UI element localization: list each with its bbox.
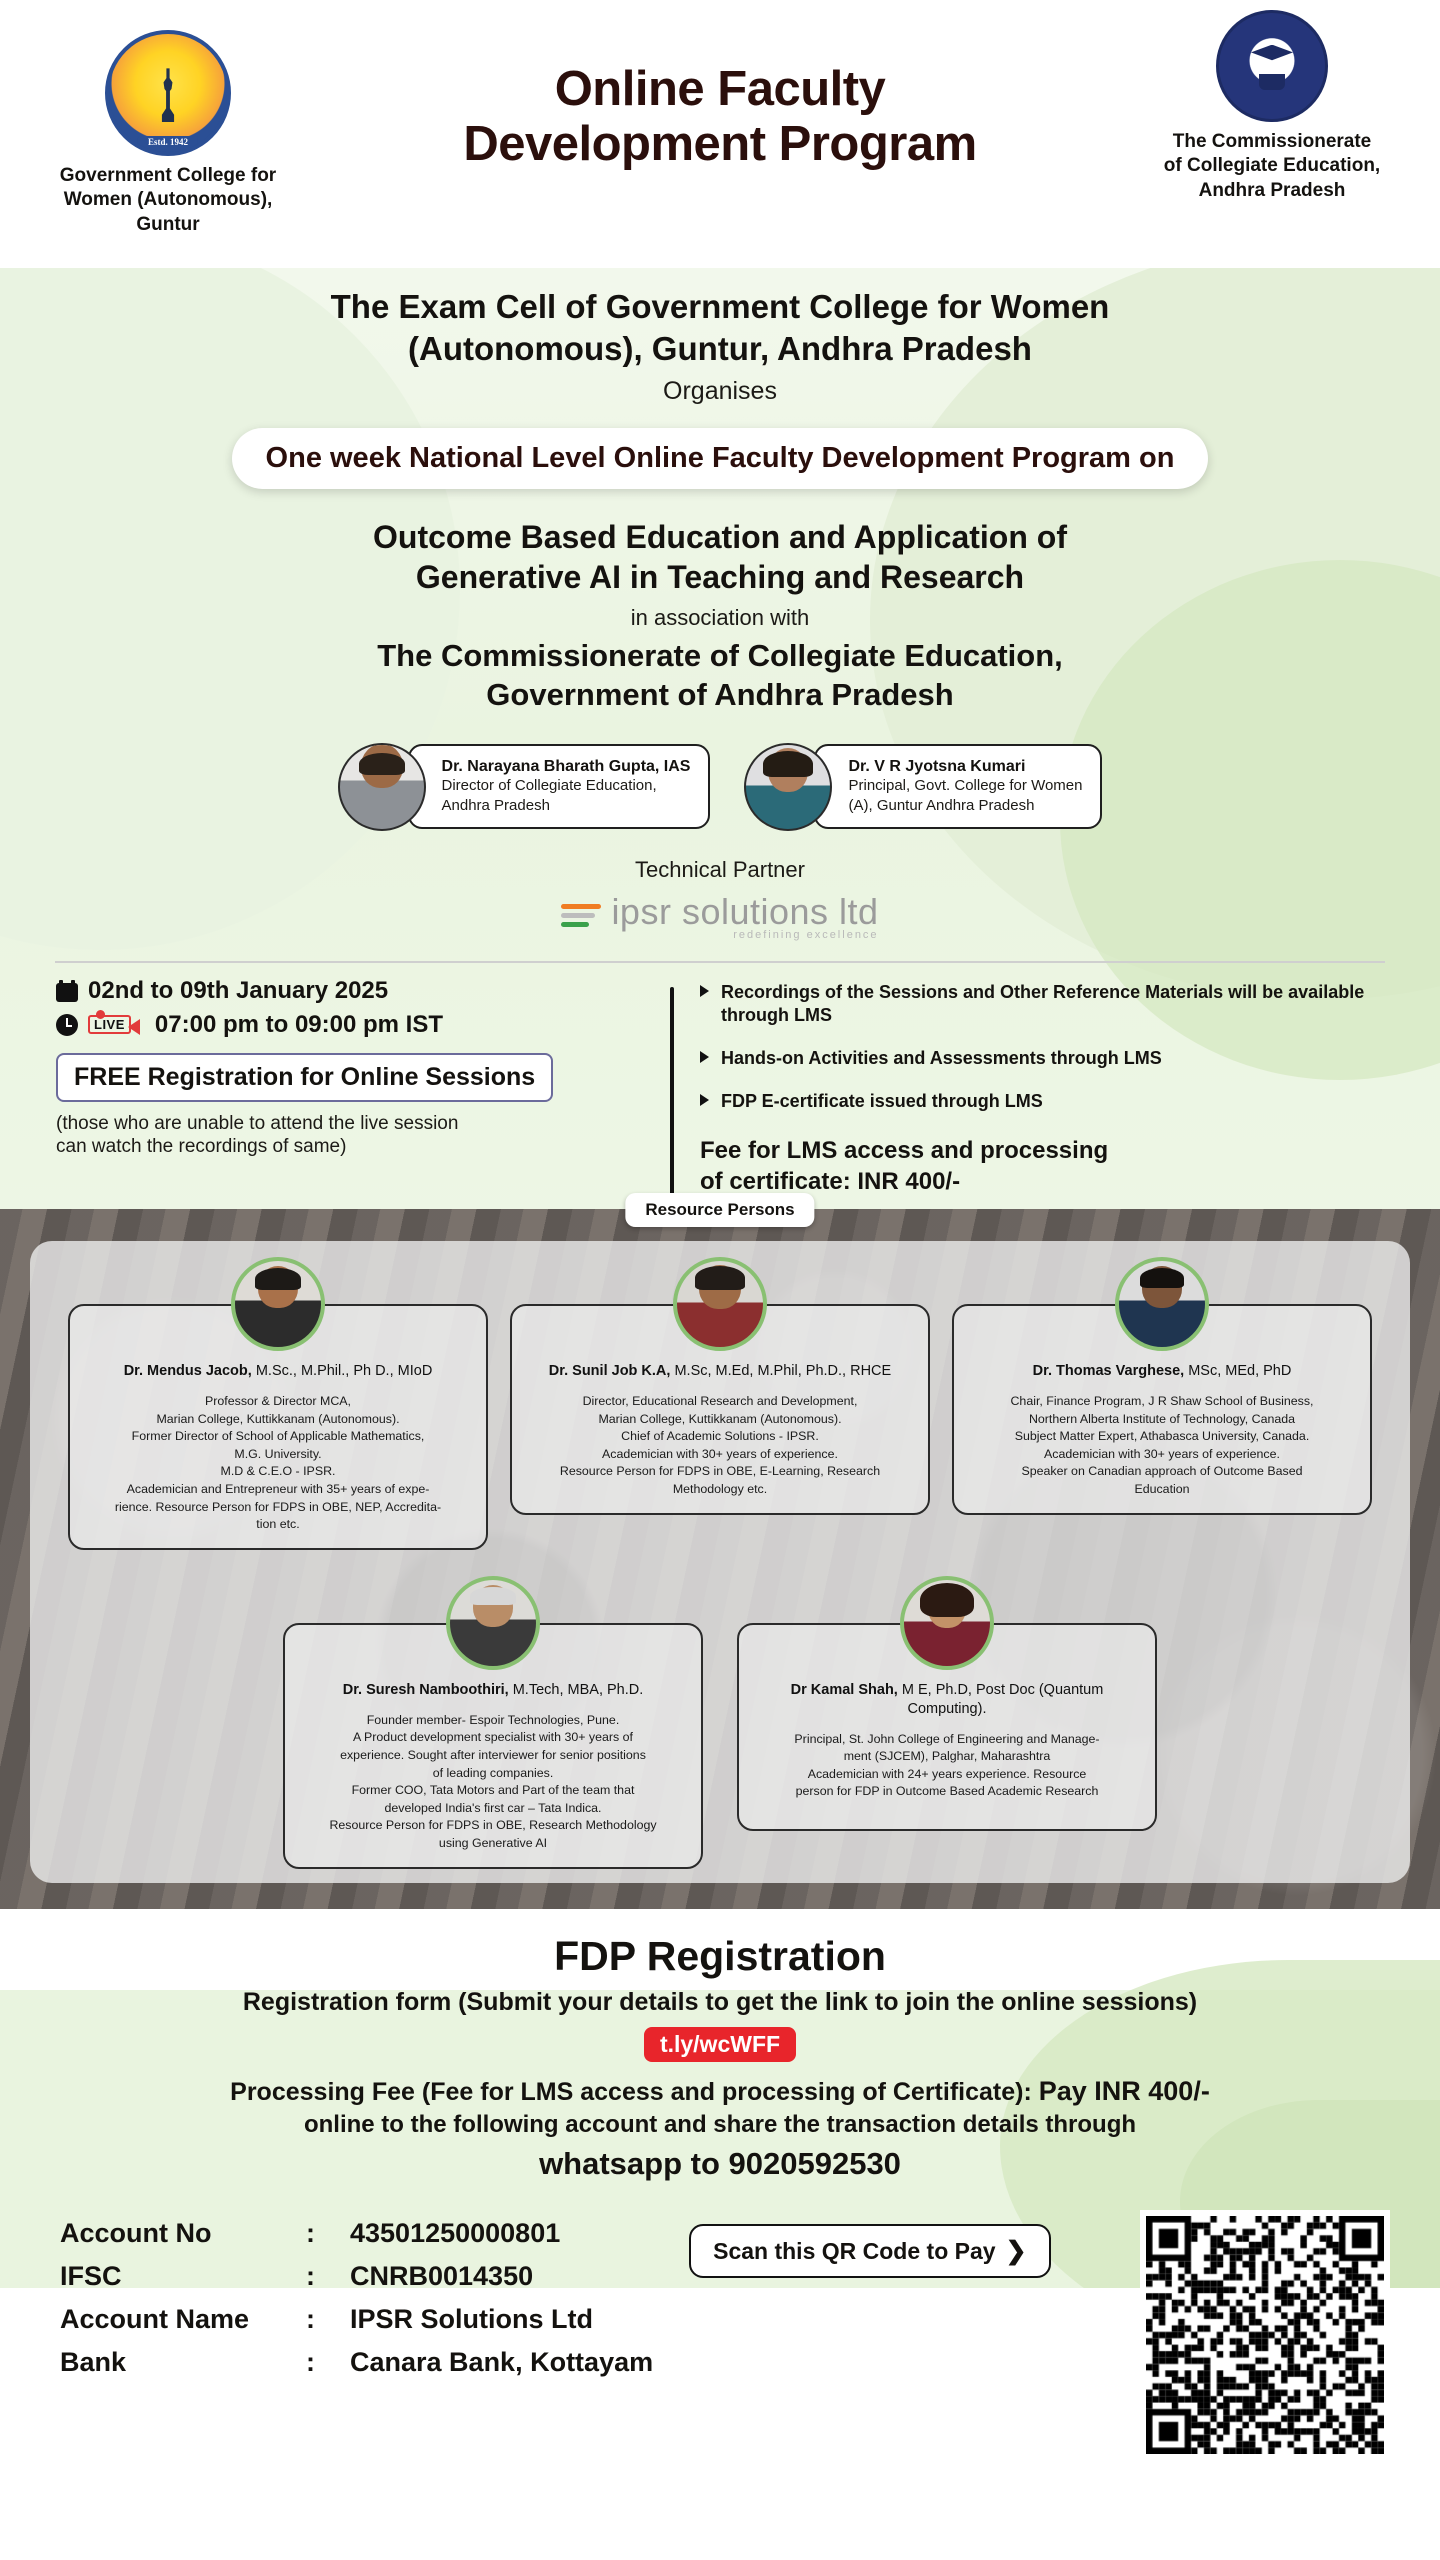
program-pill: One week National Level Online Faculty D… bbox=[232, 428, 1209, 489]
feature-text: FDP E-certificate issued through LMS bbox=[721, 1090, 1043, 1113]
calendar-icon bbox=[56, 980, 78, 1002]
bank-value: CNRB0014350 bbox=[350, 2261, 533, 2292]
chevron-right-icon: ❯ bbox=[1006, 2236, 1027, 2266]
bank-value: 43501250000801 bbox=[350, 2218, 560, 2249]
resource-person-name-line: Dr. Sunil Job K.A, M.Sc, M.Ed, M.Phil, P… bbox=[528, 1362, 912, 1381]
registration-subtitle: Registration form (Submit your details t… bbox=[60, 1988, 1380, 2017]
resource-persons-section: Resource Persons Dr. Mendus Jacob, M.Sc.… bbox=[0, 1209, 1440, 1909]
chief-guests: Dr. Narayana Bharath Gupta, IAS Director… bbox=[0, 743, 1440, 831]
guest-info: Dr. V R Jyotsna Kumari Principal, Govt. … bbox=[814, 744, 1102, 829]
clock-icon bbox=[56, 1014, 78, 1036]
bank-row: Bank : Canara Bank, Kottayam bbox=[60, 2347, 653, 2378]
bank-row: Account Name : IPSR Solutions Ltd bbox=[60, 2304, 653, 2335]
guest-name: Dr. Narayana Bharath Gupta, IAS bbox=[442, 758, 691, 776]
details-right-column: Recordings of the Sessions and Other Ref… bbox=[700, 977, 1384, 1198]
organiser-text: The Exam Cell of Government College for … bbox=[0, 286, 1440, 369]
college-seal-icon: Estd. 1942 bbox=[105, 30, 231, 156]
resource-person-name: Dr. Thomas Varghese, bbox=[1033, 1363, 1185, 1379]
feature-bullet: Hands-on Activities and Assessments thro… bbox=[700, 1047, 1384, 1070]
qr-canvas bbox=[1146, 2216, 1384, 2454]
time-text: 07:00 pm to 09:00 pm IST bbox=[155, 1011, 443, 1039]
ipsr-logo: ipsr solutions ltd redefining excellence bbox=[561, 891, 878, 941]
registration-title: FDP Registration bbox=[60, 1933, 1380, 1980]
guest-card: Dr. Narayana Bharath Gupta, IAS Director… bbox=[338, 743, 711, 831]
resource-person-name-line: Dr. Mendus Jacob, M.Sc., M.Phil., Ph D.,… bbox=[86, 1362, 470, 1381]
resource-person-bio: Director, Educational Research and Devel… bbox=[528, 1393, 912, 1499]
cce-logo-caption: The Commissionerate of Collegiate Educat… bbox=[1122, 130, 1422, 203]
triangle-bullet-icon bbox=[700, 1094, 709, 1106]
resource-person-quals: M.Sc, M.Ed, M.Phil, Ph.D., RHCE bbox=[670, 1363, 891, 1379]
registration-link-button[interactable]: t.ly/wcWFF bbox=[644, 2027, 796, 2062]
guest-info: Dr. Narayana Bharath Gupta, IAS Director… bbox=[408, 744, 711, 829]
resource-person-avatar bbox=[446, 1576, 540, 1670]
graduation-cap-icon bbox=[1259, 74, 1285, 90]
scan-qr-button[interactable]: Scan this QR Code to Pay ❯ bbox=[689, 2224, 1050, 2278]
program-theme: Outcome Based Education and Application … bbox=[0, 517, 1440, 597]
resource-person-quals: M.Sc., M.Phil., Ph D., MIoD bbox=[252, 1363, 432, 1379]
resource-person-bio: Professor & Director MCA, Marian College… bbox=[86, 1393, 470, 1534]
bank-value: IPSR Solutions Ltd bbox=[350, 2304, 593, 2335]
free-registration-note: (those who are unable to attend the live… bbox=[56, 1112, 656, 1158]
feature-text: Hands-on Activities and Assessments thro… bbox=[721, 1047, 1162, 1070]
triangle-bullet-icon bbox=[700, 1051, 709, 1063]
resource-person-name: Dr. Suresh Namboothiri, bbox=[343, 1682, 509, 1698]
resource-person-avatar bbox=[900, 1576, 994, 1670]
poster-root: Estd. 1942 Government College for Women … bbox=[0, 0, 1440, 2560]
guest-card: Dr. V R Jyotsna Kumari Principal, Govt. … bbox=[744, 743, 1102, 831]
bank-row: Account No : 43501250000801 bbox=[60, 2218, 653, 2249]
resource-person-avatar bbox=[1115, 1257, 1209, 1351]
resource-person-name-line: Dr. Thomas Varghese, MSc, MEd, PhD bbox=[970, 1362, 1354, 1381]
feature-bullet: Recordings of the Sessions and Other Ref… bbox=[700, 981, 1384, 1027]
processing-fee-label: Processing Fee (Fee for LMS access and p… bbox=[230, 2078, 1039, 2106]
date-row: 02nd to 09th January 2025 bbox=[56, 977, 656, 1005]
live-badge-icon: LIVE bbox=[88, 1015, 131, 1034]
resource-person-name: Dr. Mendus Jacob, bbox=[124, 1363, 252, 1379]
resource-person-card: Dr. Sunil Job K.A, M.Sc, M.Ed, M.Phil, P… bbox=[510, 1257, 930, 1550]
lms-fee-text: Fee for LMS access and processing of cer… bbox=[700, 1135, 1384, 1197]
divider bbox=[55, 961, 1385, 963]
registration-section: FDP Registration Registration form (Subm… bbox=[0, 1909, 1440, 2182]
vertical-divider bbox=[670, 987, 674, 1198]
poster-header: Estd. 1942 Government College for Women … bbox=[0, 0, 1440, 268]
date-text: 02nd to 09th January 2025 bbox=[88, 977, 388, 1005]
association-label: in association with bbox=[0, 605, 1440, 631]
technical-partner-label: Technical Partner bbox=[0, 857, 1440, 883]
feature-text: Recordings of the Sessions and Other Ref… bbox=[721, 981, 1384, 1027]
resource-person-card: Dr. Suresh Namboothiri, M.Tech, MBA, Ph.… bbox=[283, 1576, 703, 1869]
resource-persons-grid: Dr. Mendus Jacob, M.Sc., M.Phil., Ph D.,… bbox=[0, 1209, 1440, 1868]
partner-organisation: The Commissionerate of Collegiate Educat… bbox=[0, 637, 1440, 715]
resource-person-name-line: Dr. Suresh Namboothiri, M.Tech, MBA, Ph.… bbox=[301, 1681, 685, 1700]
bank-colon: : bbox=[306, 2261, 350, 2292]
triangle-bullet-icon bbox=[700, 985, 709, 997]
guest-name: Dr. V R Jyotsna Kumari bbox=[848, 758, 1082, 776]
resource-person-quals: M E, Ph.D, Post Doc (Quantum Computing). bbox=[898, 1682, 1104, 1717]
qr-scan-block: Scan this QR Code to Pay ❯ bbox=[689, 2218, 1380, 2390]
resource-persons-row-1: Dr. Mendus Jacob, M.Sc., M.Phil., Ph D.,… bbox=[44, 1257, 1396, 1550]
resource-person-quals: MSc, MEd, PhD bbox=[1184, 1363, 1291, 1379]
page-title: Online Faculty Development Program bbox=[400, 62, 1040, 172]
bank-colon: : bbox=[306, 2304, 350, 2335]
resource-person-quals: M.Tech, MBA, Ph.D. bbox=[509, 1682, 644, 1698]
feature-bullet: FDP E-certificate issued through LMS bbox=[700, 1090, 1384, 1113]
intro-band: The Exam Cell of Government College for … bbox=[0, 268, 1440, 1197]
processing-fee-note: online to the following account and shar… bbox=[60, 2109, 1380, 2140]
resource-person-bio: Chair, Finance Program, J R Shaw School … bbox=[970, 1393, 1354, 1499]
ipsr-mark-icon bbox=[561, 901, 603, 931]
guest-role: Director of Collegiate Education, Andhra… bbox=[442, 776, 691, 815]
resource-person-card: Dr. Mendus Jacob, M.Sc., M.Phil., Ph D.,… bbox=[68, 1257, 488, 1550]
cce-logo-block: The Commissionerate of Collegiate Educat… bbox=[1122, 10, 1422, 203]
details-section: 02nd to 09th January 2025 LIVE 07:00 pm … bbox=[0, 977, 1440, 1198]
live-label: LIVE bbox=[94, 1017, 125, 1032]
guest-role: Principal, Govt. College for Women (A), … bbox=[848, 776, 1082, 815]
resource-persons-tab-label: Resource Persons bbox=[625, 1193, 814, 1227]
cce-seal-icon bbox=[1216, 10, 1328, 122]
processing-fee-text: Processing Fee (Fee for LMS access and p… bbox=[60, 2074, 1380, 2140]
resource-persons-row-2: Dr. Suresh Namboothiri, M.Tech, MBA, Ph.… bbox=[44, 1576, 1396, 1869]
ipsr-wordmark: ipsr solutions ltd bbox=[611, 891, 878, 933]
bank-colon: : bbox=[306, 2347, 350, 2378]
payment-qr-code[interactable] bbox=[1140, 2210, 1390, 2460]
whatsapp-contact: whatsapp to 9020592530 bbox=[60, 2146, 1380, 2182]
resource-person-name-line: Dr Kamal Shah, M E, Ph.D, Post Doc (Quan… bbox=[755, 1681, 1139, 1719]
scan-qr-label: Scan this QR Code to Pay bbox=[713, 2238, 995, 2265]
bank-row: IFSC : CNRB0014350 bbox=[60, 2261, 653, 2292]
resource-person-name: Dr. Sunil Job K.A, bbox=[549, 1363, 671, 1379]
resource-person-card: Dr Kamal Shah, M E, Ph.D, Post Doc (Quan… bbox=[737, 1576, 1157, 1869]
college-logo-block: Estd. 1942 Government College for Women … bbox=[18, 30, 318, 237]
time-row: LIVE 07:00 pm to 09:00 pm IST bbox=[56, 1011, 656, 1039]
bank-label: IFSC bbox=[60, 2261, 306, 2292]
guest-avatar bbox=[338, 743, 426, 831]
resource-person-avatar bbox=[231, 1257, 325, 1351]
resource-person-name: Dr Kamal Shah, bbox=[791, 1682, 898, 1698]
bank-label: Bank bbox=[60, 2347, 306, 2378]
resource-person-bio: Founder member- Espoir Technologies, Pun… bbox=[301, 1712, 685, 1853]
bank-colon: : bbox=[306, 2218, 350, 2249]
resource-person-card: Dr. Thomas Varghese, MSc, MEd, PhD Chair… bbox=[952, 1257, 1372, 1550]
resource-person-bio: Principal, St. John College of Engineeri… bbox=[755, 1731, 1139, 1801]
details-left-column: 02nd to 09th January 2025 LIVE 07:00 pm … bbox=[56, 977, 656, 1158]
bank-details-footer: Account No : 43501250000801 IFSC : CNRB0… bbox=[0, 2182, 1440, 2390]
bank-value: Canara Bank, Kottayam bbox=[350, 2347, 653, 2378]
college-logo-caption: Government College for Women (Autonomous… bbox=[18, 164, 318, 237]
bank-label: Account Name bbox=[60, 2304, 306, 2335]
processing-fee-amount: Pay INR 400/- bbox=[1039, 2076, 1210, 2106]
bank-label: Account No bbox=[60, 2218, 306, 2249]
seal-estd-label: Estd. 1942 bbox=[138, 136, 198, 148]
guest-avatar bbox=[744, 743, 832, 831]
resource-person-avatar bbox=[673, 1257, 767, 1351]
organises-label: Organises bbox=[0, 377, 1440, 406]
free-registration-badge: FREE Registration for Online Sessions bbox=[56, 1053, 553, 1102]
bank-details-table: Account No : 43501250000801 IFSC : CNRB0… bbox=[60, 2218, 653, 2390]
